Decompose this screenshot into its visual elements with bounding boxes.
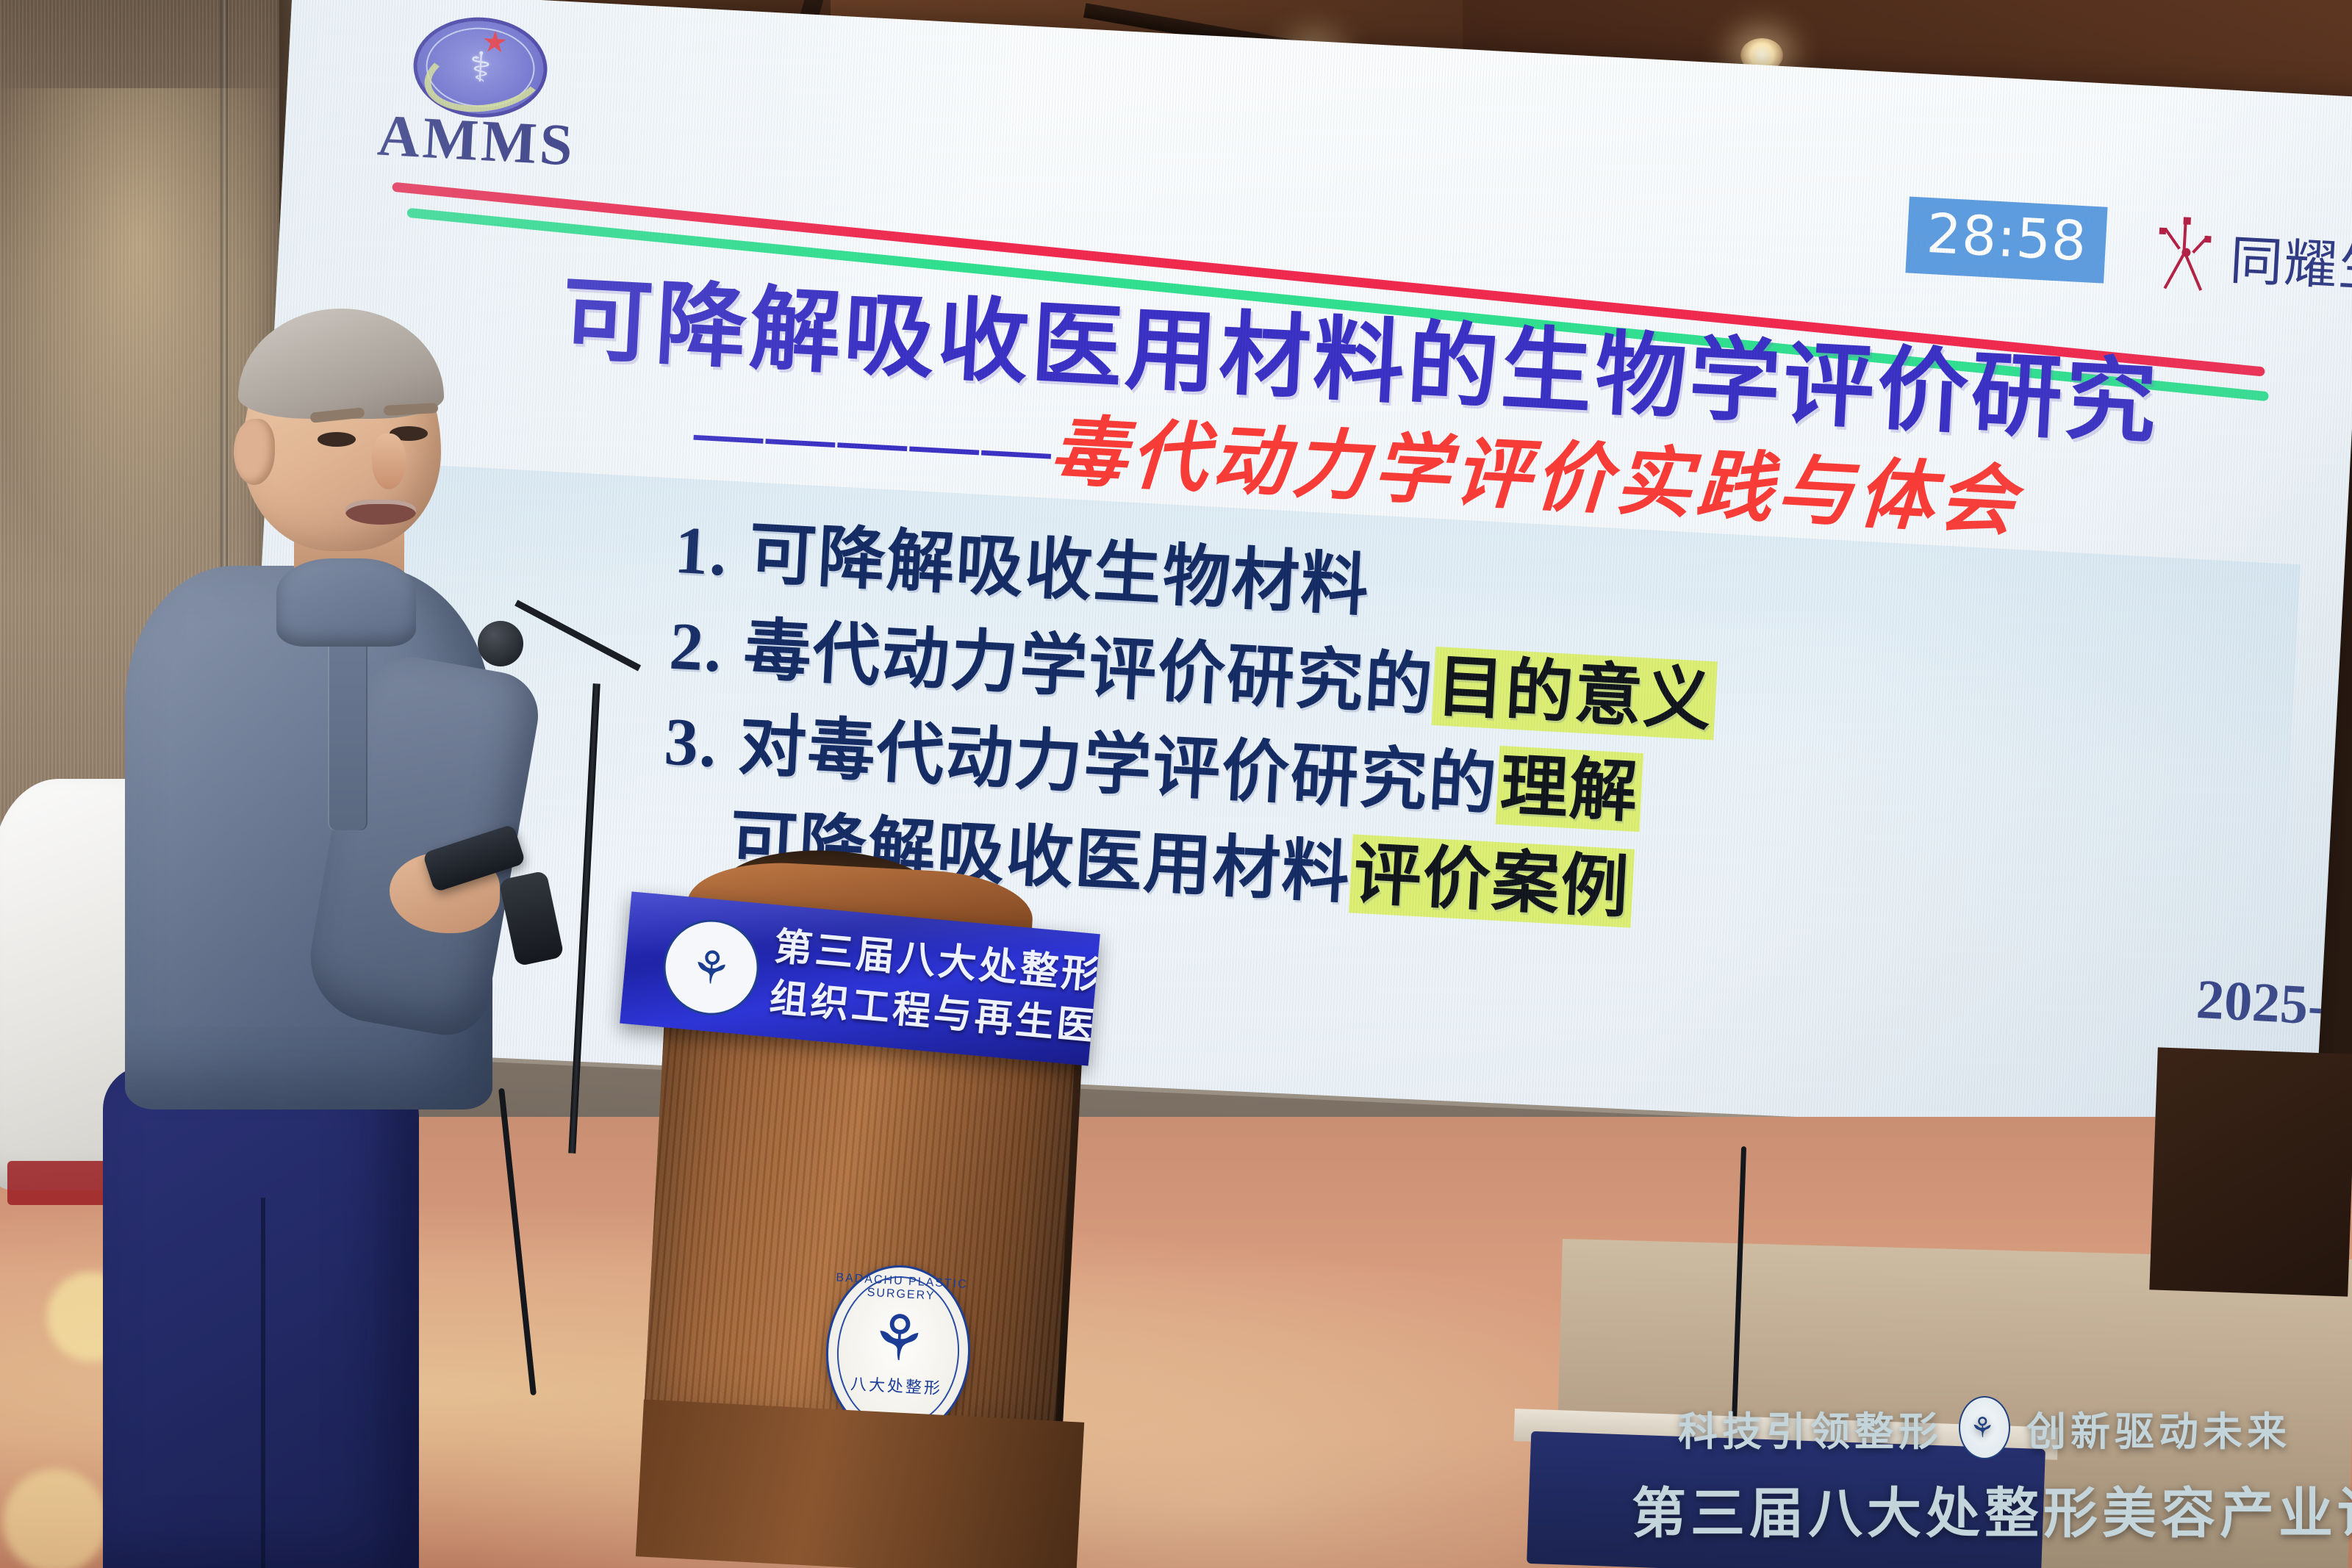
speaker: [110, 316, 566, 1568]
speaker-nose: [372, 434, 406, 489]
conference-photo-scene: ★ ⚕ AMMS 28:58 同耀生 可降解吸收医用材: [0, 0, 2352, 1568]
speaker-mouth: [345, 500, 416, 525]
list-item-number: 2.: [667, 608, 725, 686]
list-item-highlight: 目的意义: [1432, 647, 1718, 740]
sweater-collar: [276, 558, 416, 647]
watermark-left-text: 科技引领整形: [1678, 1399, 1943, 1457]
list-item-highlight: 理解: [1496, 746, 1643, 832]
sponsor-logo: 同耀生: [2146, 211, 2352, 303]
watermark-top-row: 科技引领整形 ⚘ 创新驱动未来: [1632, 1396, 2337, 1459]
list-item-highlight: 评价案例: [1349, 834, 1635, 927]
speaker-eye: [318, 432, 356, 447]
speaker-hair: [238, 309, 444, 419]
watermark-bottom-text: 第三届八大处整形美容产业论坛: [1632, 1470, 2337, 1548]
watermark-right-text: 创新驱动未来: [2026, 1399, 2291, 1457]
speaker-ear: [234, 419, 275, 485]
tongyao-starburst-icon: [2146, 211, 2221, 294]
caduceus-icon: ⚕: [468, 46, 492, 89]
podium-sign-text: 第三届八大处整形美容产业论坛 组织工程与再生医学转化分论坛: [767, 921, 1086, 1051]
trouser-seam: [261, 1198, 265, 1568]
badachu-seal-icon: ⚘: [1959, 1396, 2010, 1459]
event-watermark: 科技引领整形 ⚘ 创新驱动未来 第三届八大处整形美容产业论坛: [1632, 1396, 2337, 1548]
microphone-head-icon: [478, 621, 523, 666]
stage-equipment-box: [2149, 1047, 2352, 1296]
amms-logo: ★ ⚕ AMMS: [354, 11, 603, 175]
list-item-number: 3.: [662, 704, 720, 782]
amms-seal-icon: ★ ⚕: [411, 14, 550, 121]
podium-base: [636, 1399, 1084, 1568]
list-item-number: 1.: [673, 512, 730, 590]
slide-date: 2025-11: [2195, 968, 2352, 1041]
sponsor-name: 同耀生: [2229, 216, 2352, 302]
podium: BADACHU PLASTIC SURGERY ⚘ 八大处整形 ⚘ 第三届八大处…: [632, 867, 1088, 1568]
countdown-timer: 28:58: [1905, 196, 2107, 283]
podium-sign-emblem-icon: ⚘: [659, 916, 763, 1019]
subtitle-dashes: —————: [688, 386, 1053, 495]
